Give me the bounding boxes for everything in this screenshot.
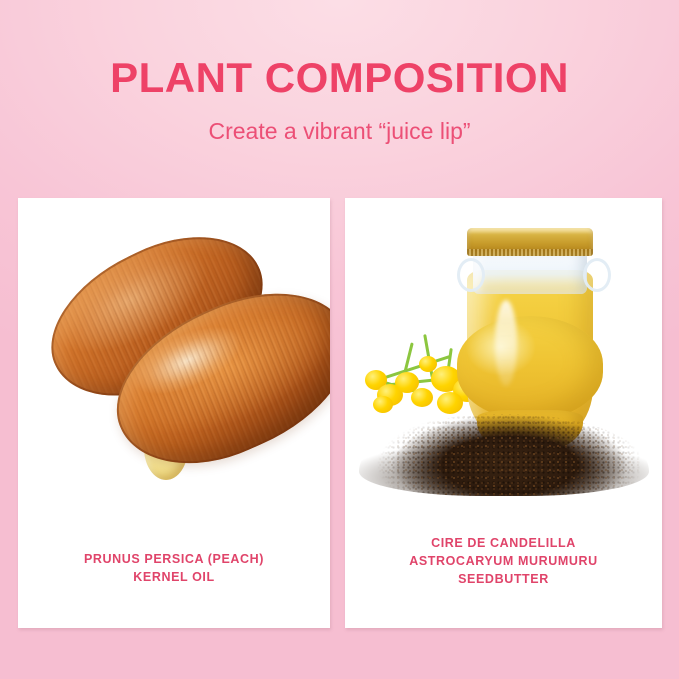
page-subtitle: Create a vibrant “juice lip”	[0, 118, 679, 146]
caption-line-2: KERNEL OIL	[18, 568, 330, 586]
almond-illustration	[18, 198, 330, 528]
jar-neck	[473, 250, 587, 294]
flower-icon	[419, 356, 437, 372]
card-caption: CIRE DE CANDELILLA ASTROCARYUM MURUMURU …	[345, 534, 662, 588]
jar-lug-left	[457, 258, 485, 292]
ingredient-card-peach-kernel-oil: PRUNUS PERSICA (PEACH) KERNEL OIL	[18, 198, 330, 628]
flower-icon	[437, 392, 463, 414]
page-title: PLANT COMPOSITION	[0, 57, 679, 99]
flower-icon	[373, 396, 393, 413]
jar-bulge	[457, 316, 603, 420]
seed-pile-icon	[359, 414, 649, 496]
flower-icon	[411, 388, 433, 407]
seed-texture	[359, 414, 649, 496]
plant-composition-infographic: PLANT COMPOSITION Create a vibrant “juic…	[0, 0, 679, 679]
jar-lid-icon	[467, 228, 593, 256]
caption-line-1: CIRE DE CANDELILLA	[345, 534, 662, 552]
card-caption: PRUNUS PERSICA (PEACH) KERNEL OIL	[18, 550, 330, 586]
caption-line-2: ASTROCARYUM MURUMURU	[345, 552, 662, 570]
caption-line-3: SEEDBUTTER	[345, 570, 662, 588]
caption-line-1: PRUNUS PERSICA (PEACH)	[18, 550, 330, 568]
jar-group	[345, 198, 662, 528]
jar-lug-right	[583, 258, 611, 292]
jar-highlight	[495, 300, 517, 386]
ingredient-card-candelilla-murumuru: CIRE DE CANDELILLA ASTROCARYUM MURUMURU …	[345, 198, 662, 628]
oil-jar-illustration	[345, 198, 662, 528]
